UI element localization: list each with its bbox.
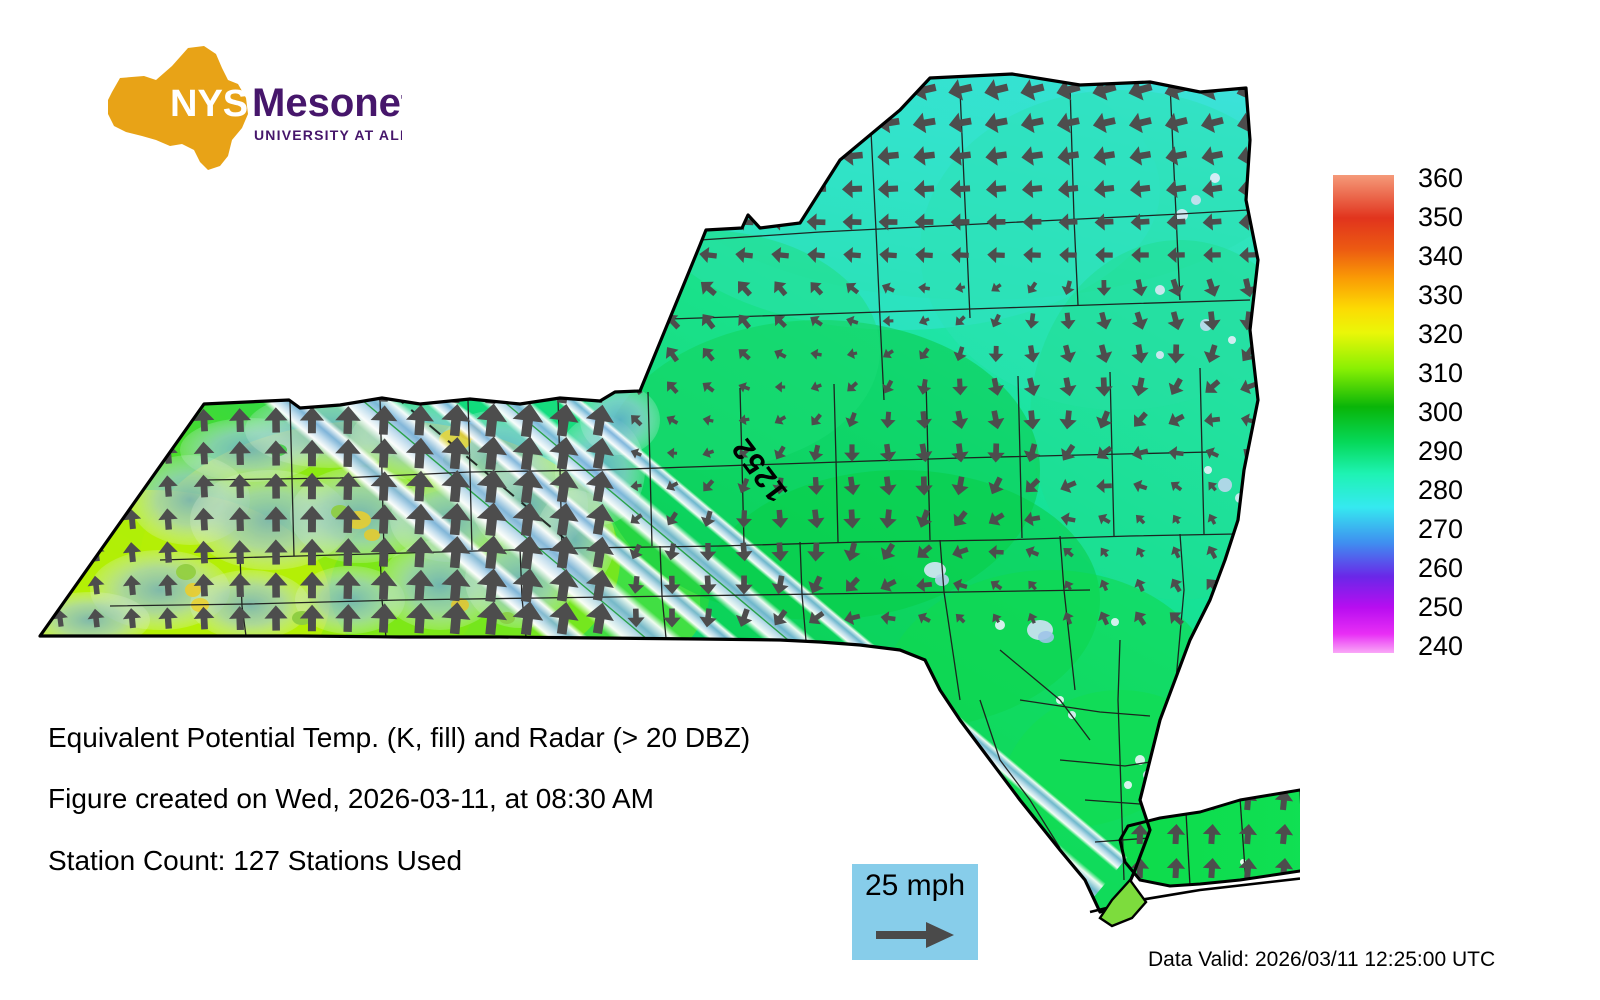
colorbar-tick-340: 340 (1418, 243, 1463, 270)
colorbar-tick-320: 320 (1418, 321, 1463, 348)
colorbar-tick-290: 290 (1418, 438, 1463, 465)
wind-legend-label: 25 mph (852, 869, 978, 903)
nys-mesonet-logo: NYS Mesonet UNIVERSITY AT ALBANY (52, 40, 402, 180)
station-count-text: Station Count: 127 Stations Used (48, 845, 462, 877)
colorbar-tick-350: 350 (1418, 204, 1463, 231)
figure-created-text: Figure created on Wed, 2026-03-11, at 08… (48, 783, 654, 815)
colorbar-tick-280: 280 (1418, 477, 1463, 504)
colorbar: 360 350 340 330 320 310 300 290 280 270 … (1333, 175, 1583, 655)
colorbar-tick-360: 360 (1418, 165, 1463, 192)
logo-nys-text: NYS (170, 83, 248, 125)
colorbar-tick-260: 260 (1418, 555, 1463, 582)
colorbar-tick-240: 240 (1418, 633, 1463, 660)
logo-mesonet-text: Mesonet (252, 81, 402, 125)
colorbar-tick-310: 310 (1418, 360, 1463, 387)
colorbar-tick-300: 300 (1418, 399, 1463, 426)
colorbar-tick-330: 330 (1418, 282, 1463, 309)
colorbar-gradient (1333, 175, 1394, 653)
wind-speed-legend: 25 mph (852, 864, 978, 960)
arrow-right-icon (876, 920, 956, 950)
logo-subtitle: UNIVERSITY AT ALBANY (254, 127, 402, 143)
data-valid-text: Data Valid: 2026/03/11 12:25:00 UTC (1148, 948, 1495, 972)
colorbar-tick-250: 250 (1418, 594, 1463, 621)
figure-title: Equivalent Potential Temp. (K, fill) and… (48, 722, 750, 754)
colorbar-tick-270: 270 (1418, 516, 1463, 543)
